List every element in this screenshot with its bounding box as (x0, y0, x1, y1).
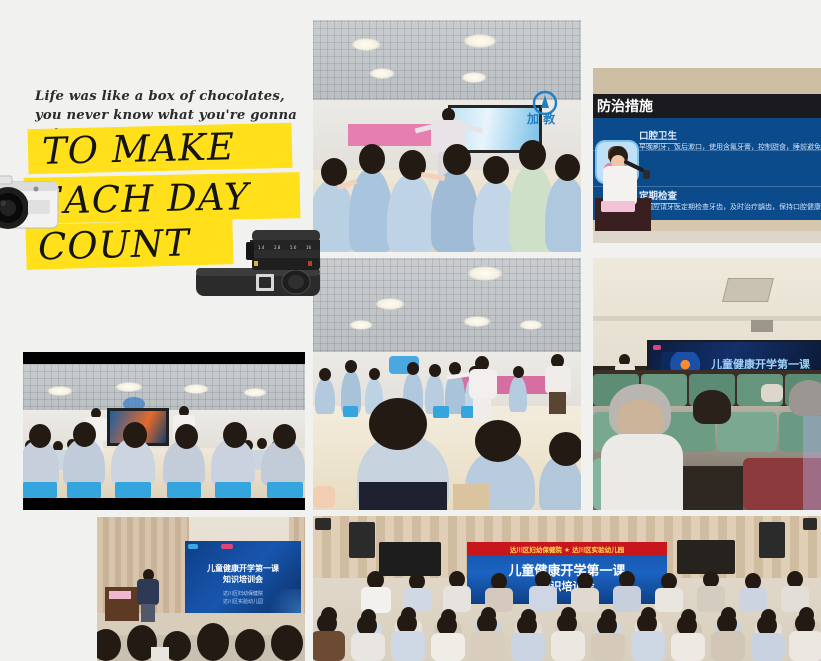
photo-classroom-activity: 加 教 (313, 20, 581, 252)
auditorium-screen-title: 儿童健康开学第一课 (711, 356, 819, 369)
camera-right-icon: 1.42.85.616 (196, 228, 320, 296)
headline-line-2: EACH DAY (24, 172, 301, 224)
banner-top-text: 达川区妇幼保健院 ★ 达川区实验幼儿园 (467, 544, 667, 554)
photo-classroom-circle (313, 258, 581, 510)
svg-text:2.8: 2.8 (274, 245, 281, 250)
svg-text:1.4: 1.4 (258, 245, 265, 250)
wall-logo: 加 教 (525, 90, 573, 128)
headline-line-1: TO MAKE (27, 123, 292, 174)
svg-text:5.6: 5.6 (290, 245, 297, 250)
slide-line-2: 知识培训会 (185, 574, 301, 585)
photo-dental-prevention-slide: 防治措施 口腔卫生 早晚刷牙，饭后漱口，使用含氟牙膏，控制甜食，睡前避免食用 定… (593, 68, 821, 243)
photo-auditorium-lecture: 儿童健康开学第一课 (593, 258, 821, 510)
training-slide: 儿童健康开学第一课 知识培训会 达川区妇幼保健院 达川区实验幼儿园 (185, 541, 301, 613)
poster-canvas: Life was like a box of chocolates, you n… (0, 0, 821, 661)
camera-left-icon (0, 170, 60, 232)
slide-section-2-body: 儿园应请牙医定期检查牙齿，及时治疗龋齿，保持口腔健康。 (639, 202, 821, 212)
svg-text:加 教: 加 教 (526, 111, 556, 126)
photo-seated-children (23, 352, 305, 510)
slide-title: 防治措施 (597, 96, 653, 116)
svg-text:16: 16 (306, 245, 312, 250)
photo-training-session-slide: 儿童健康开学第一课 知识培训会 达川区妇幼保健院 达川区实验幼儿园 (97, 517, 305, 661)
photo-group: 达川区妇幼保健院 ★ 达川区实验幼儿园 儿童健康开学第一课 知识培训会 (313, 516, 821, 661)
slide-section-1-body: 早晚刷牙，饭后漱口，使用含氟牙膏，控制甜食，睡前避免食用 (639, 142, 821, 152)
slide-line-1: 儿童健康开学第一课 (185, 563, 301, 574)
